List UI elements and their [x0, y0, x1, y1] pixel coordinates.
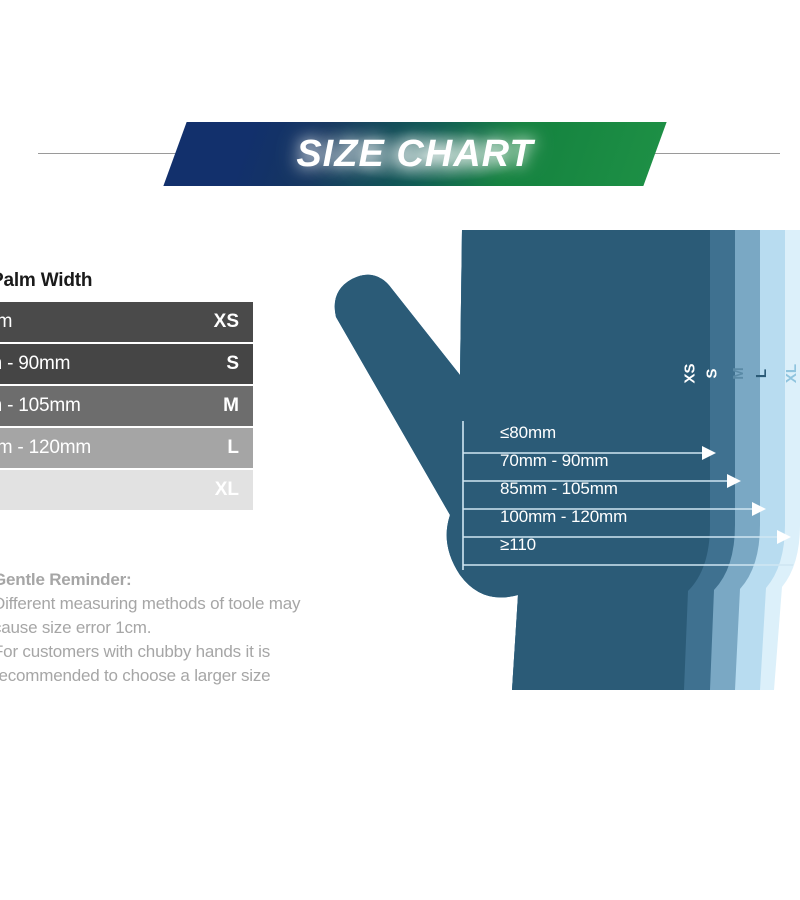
glove-illustration: ≤80mm70mm - 90mm85mm - 105mm100mm - 120m…: [330, 225, 800, 695]
band-size-letter: XL: [783, 364, 800, 383]
page-title: SIZE CHART: [175, 122, 655, 186]
palm-width-value: 100mm - 120mm: [0, 437, 91, 459]
palm-width-value: ≤80mm: [0, 311, 12, 333]
size-label: L: [227, 428, 239, 468]
size-label: S: [226, 344, 239, 384]
palm-width-heading: Palm Width: [0, 270, 92, 292]
table-row: 70mm - 90mmS: [0, 344, 253, 384]
band-size-letters: XSSMLXL: [330, 225, 800, 695]
band-size-letter: L: [753, 369, 770, 378]
palm-width-value: 70mm - 90mm: [0, 353, 70, 375]
size-chart-page: SIZE CHART Palm Width ≤80mmXS70mm - 90mm…: [0, 0, 800, 900]
band-size-letter: M: [730, 367, 747, 380]
table-row: ≥110XL: [0, 470, 253, 510]
table-row: ≤80mmXS: [0, 302, 253, 342]
table-row: 85mm - 105mmM: [0, 386, 253, 426]
header-banner: SIZE CHART: [0, 118, 800, 190]
size-label: XL: [215, 470, 239, 510]
size-label: XS: [214, 302, 239, 342]
palm-width-value: 85mm - 105mm: [0, 395, 81, 417]
size-table: ≤80mmXS70mm - 90mmS85mm - 105mmM100mm - …: [0, 302, 253, 512]
band-size-letter: S: [704, 368, 721, 378]
band-size-letter: XS: [682, 363, 699, 383]
size-label: M: [223, 386, 239, 426]
table-row: 100mm - 120mmL: [0, 428, 253, 468]
